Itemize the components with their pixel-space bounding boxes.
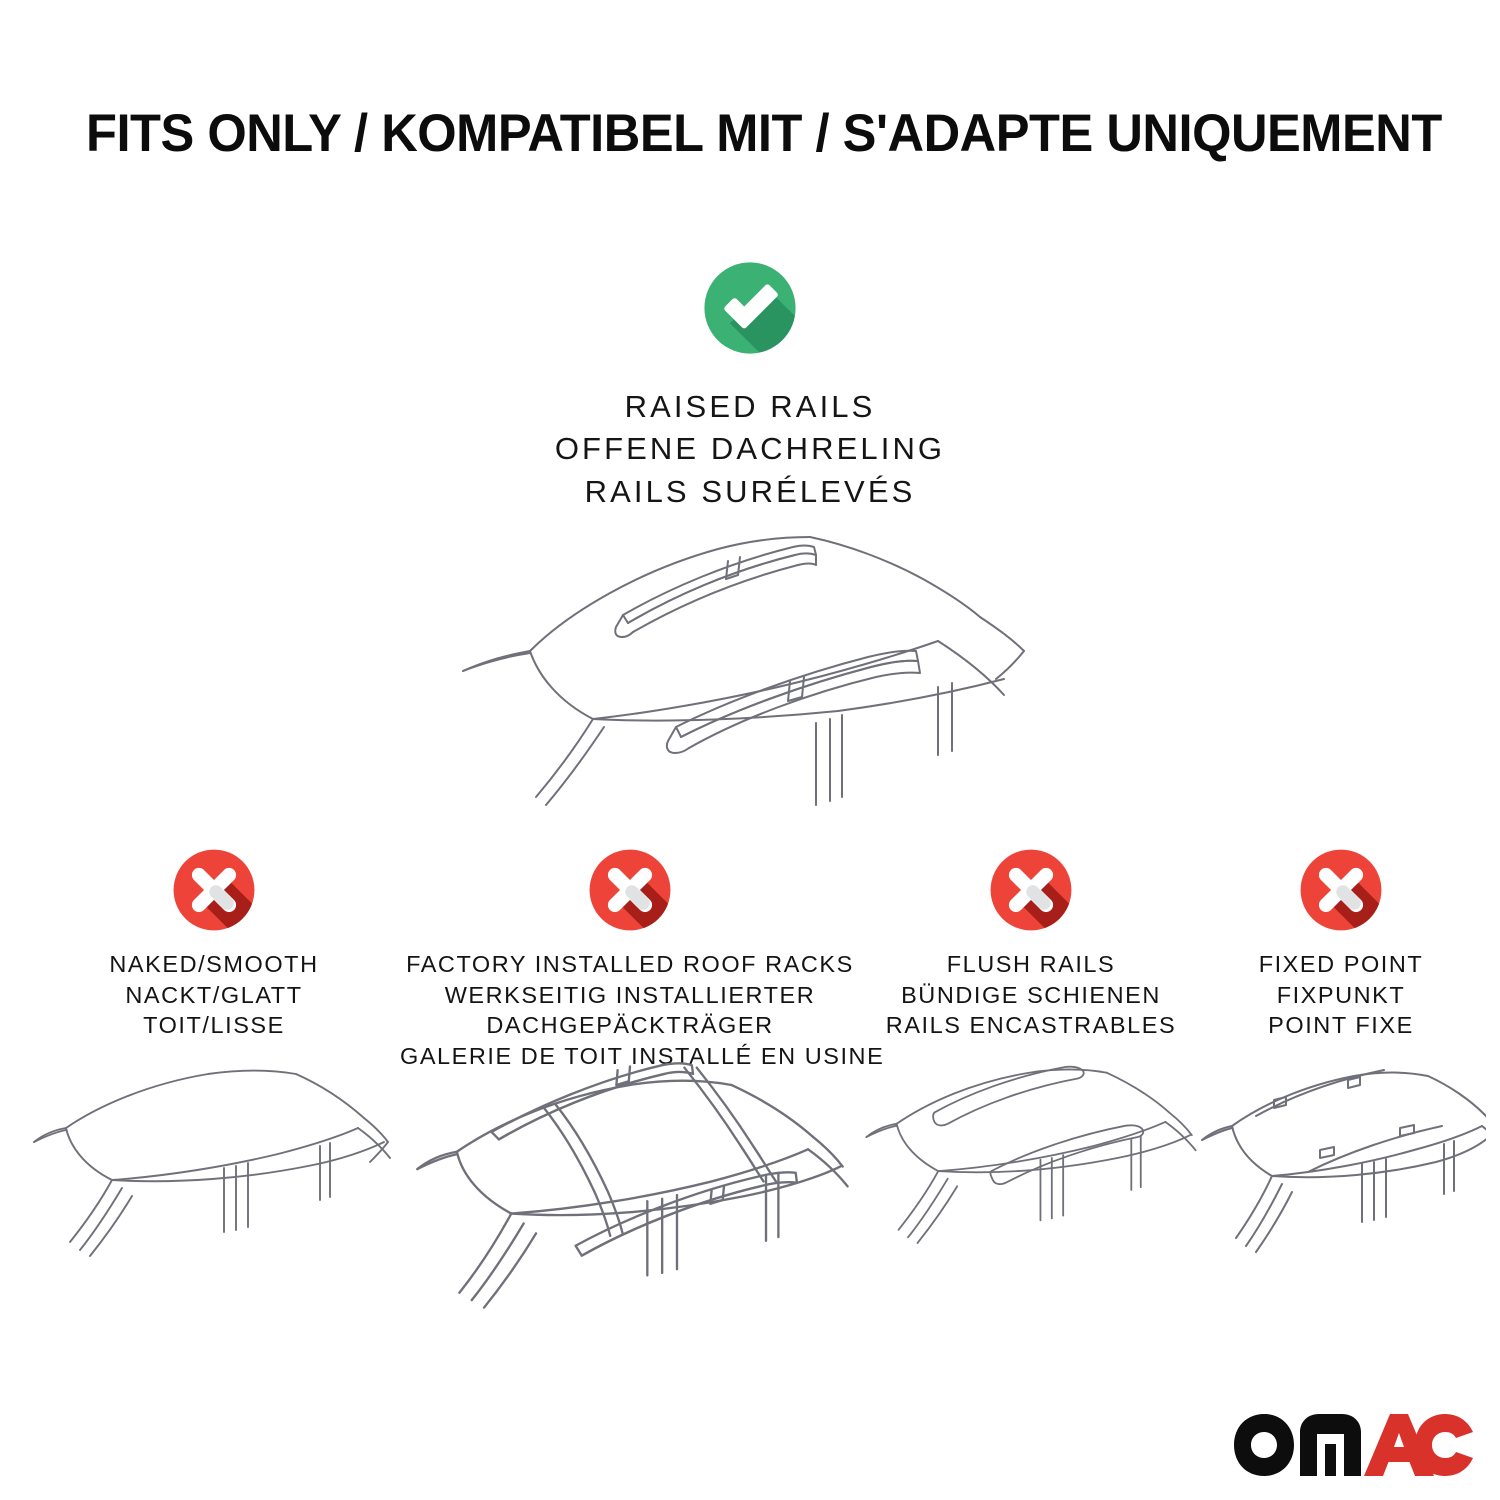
incompatible-section: NAKED/SMOOTH NACKT/GLATT TOIT/LISSE [0, 843, 1500, 1313]
car-roof-factory-roof-racks-illustration [400, 1038, 860, 1362]
car-roof-naked-smooth-illustration [28, 1050, 400, 1300]
label-de: BÜNDIGE SCHIENEN [855, 980, 1207, 1011]
compatible-label-en: RAISED RAILS [0, 386, 1500, 428]
page-title: FITS ONLY / KOMPATIBEL MIT / S'ADAPTE UN… [86, 106, 1366, 162]
car-roof-flush-rails-illustration [855, 1050, 1207, 1287]
compatible-label-de: OFFENE DACHRELING [0, 428, 1500, 470]
incompatible-item-naked-smooth: NAKED/SMOOTH NACKT/GLATT TOIT/LISSE [28, 843, 400, 1041]
car-roof-raised-rails-illustration [418, 505, 1083, 825]
compatible-section: RAISED RAILS OFFENE DACHRELING RAILS SUR… [0, 255, 1500, 513]
label-en: FLUSH RAILS [855, 949, 1207, 980]
label-en: FIXED POINT [1196, 949, 1486, 980]
check-circle-icon [697, 255, 803, 361]
label-fr: POINT FIXE [1196, 1010, 1486, 1041]
cross-circle-icon [583, 843, 677, 937]
cross-circle-icon [984, 843, 1078, 937]
incompatible-item-factory-roof-racks: FACTORY INSTALLED ROOF RACKS WERKSEITIG … [400, 843, 860, 1071]
cross-circle-icon [1294, 843, 1388, 937]
label-en: FACTORY INSTALLED ROOF RACKS [400, 949, 860, 980]
car-roof-fixed-point-illustration [1196, 1050, 1486, 1300]
incompatible-labels: NAKED/SMOOTH NACKT/GLATT TOIT/LISSE [28, 949, 400, 1041]
omac-logo [1232, 1412, 1475, 1478]
incompatible-labels: FIXED POINT FIXPUNKT POINT FIXE [1196, 949, 1486, 1041]
label-de-1: WERKSEITIG INSTALLIERTER [400, 980, 860, 1011]
compatible-labels: RAISED RAILS OFFENE DACHRELING RAILS SUR… [0, 386, 1500, 513]
incompatible-item-flush-rails: FLUSH RAILS BÜNDIGE SCHIENEN RAILS ENCAS… [855, 843, 1207, 1041]
incompatible-labels: FLUSH RAILS BÜNDIGE SCHIENEN RAILS ENCAS… [855, 949, 1207, 1041]
label-de: FIXPUNKT [1196, 980, 1486, 1011]
label-de-2: DACHGEPÄCKTRÄGER [400, 1010, 860, 1041]
cross-circle-icon [167, 843, 261, 937]
label-fr: TOIT/LISSE [28, 1010, 400, 1041]
label-fr: RAILS ENCASTRABLES [855, 1010, 1207, 1041]
label-en: NAKED/SMOOTH [28, 949, 400, 980]
incompatible-item-fixed-point: FIXED POINT FIXPUNKT POINT FIXE [1196, 843, 1486, 1041]
label-de: NACKT/GLATT [28, 980, 400, 1011]
